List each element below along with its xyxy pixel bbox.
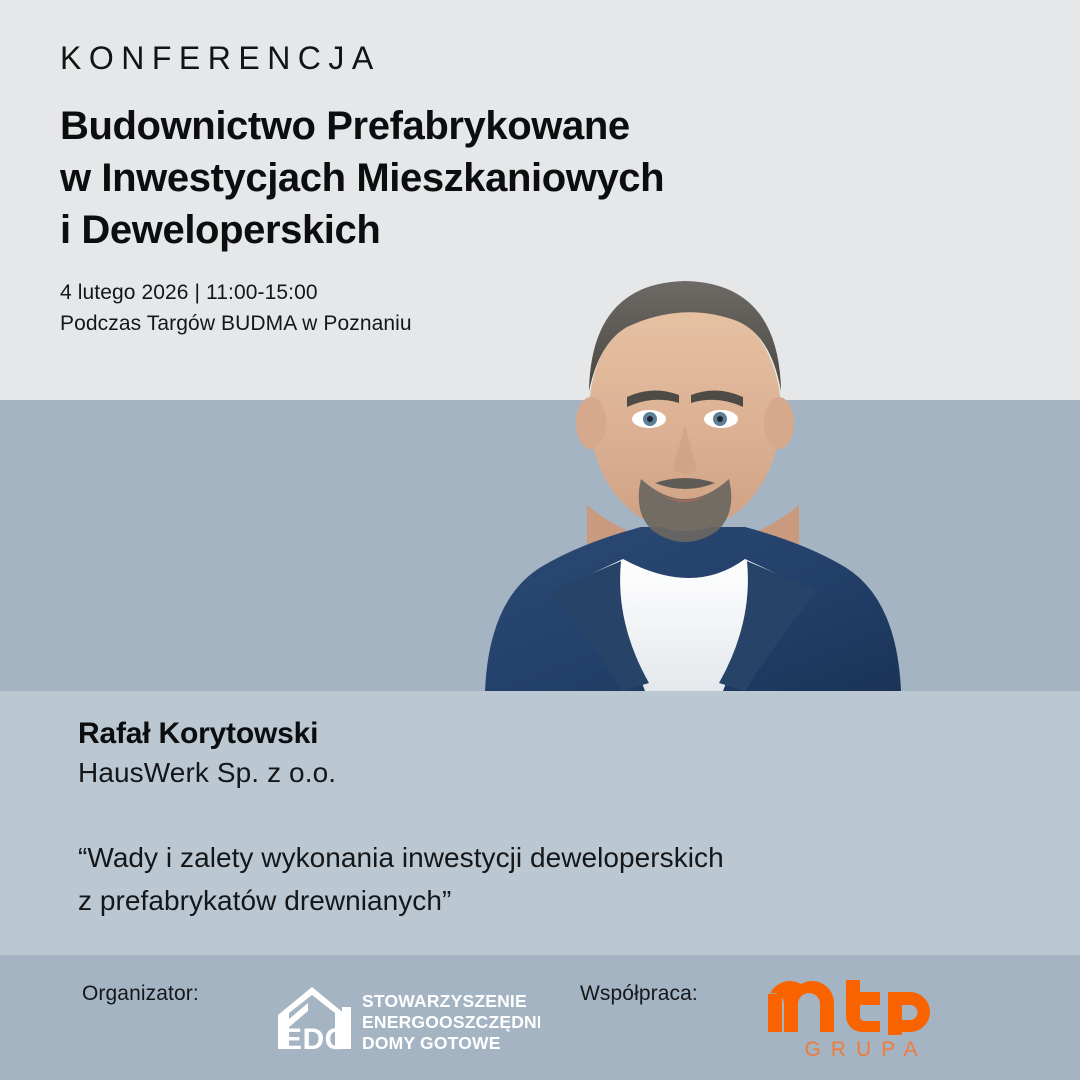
page-title: Budownictwo Prefabrykowane w Inwestycjac… [60,100,760,256]
partner-logo-mtp: GRUPA [768,980,954,1062]
organizer-logo-sedg: EDG STOWARZYSZENIE ENERGOOSZCZĘDNE DOMY … [272,983,540,1053]
sedg-line-2: ENERGOOSZCZĘDNE [362,1012,540,1032]
talk-title-line-1: “Wady i zalety wykonania inwestycji dewe… [78,836,998,880]
title-line-3: i Deweloperskich [60,204,760,256]
event-venue: Podczas Targów BUDMA w Poznaniu [60,309,760,340]
poster-header: KONFERENCJA Budownictwo Prefabrykowane w… [60,42,760,339]
speaker-name: Rafał Korytowski [78,714,998,754]
talk-title-line-2: z prefabrykatów drewnianych” [78,879,998,923]
conference-poster: KONFERENCJA Budownictwo Prefabrykowane w… [0,0,1080,1080]
speaker-talk-title: “Wady i zalety wykonania inwestycji dewe… [78,836,998,923]
kicker-label: KONFERENCJA [60,42,760,74]
sedg-line-1: STOWARZYSZENIE [362,991,527,1011]
mtp-wordmark [768,980,954,1035]
title-line-2: w Inwestycjach Mieszkaniowych [60,152,760,204]
mtp-subtitle: GRUPA [768,1039,954,1060]
event-datetime: 4 lutego 2026 | 11:00-15:00 [60,278,760,309]
speaker-company: HausWerk Sp. z o.o. [78,754,998,792]
poster-footer: Organizator: Współpraca: EDG STOWARZYSZE… [0,955,1080,1080]
organizer-label: Organizator: [82,982,199,1006]
sedg-mark-text: EDG [282,1023,349,1053]
sedg-line-3: DOMY GOTOWE [362,1033,501,1053]
event-meta: 4 lutego 2026 | 11:00-15:00 Podczas Targ… [60,278,760,339]
partner-label: Współpraca: [580,982,698,1006]
title-line-1: Budownictwo Prefabrykowane [60,100,760,152]
speaker-block: Rafał Korytowski HausWerk Sp. z o.o. “Wa… [78,714,998,923]
